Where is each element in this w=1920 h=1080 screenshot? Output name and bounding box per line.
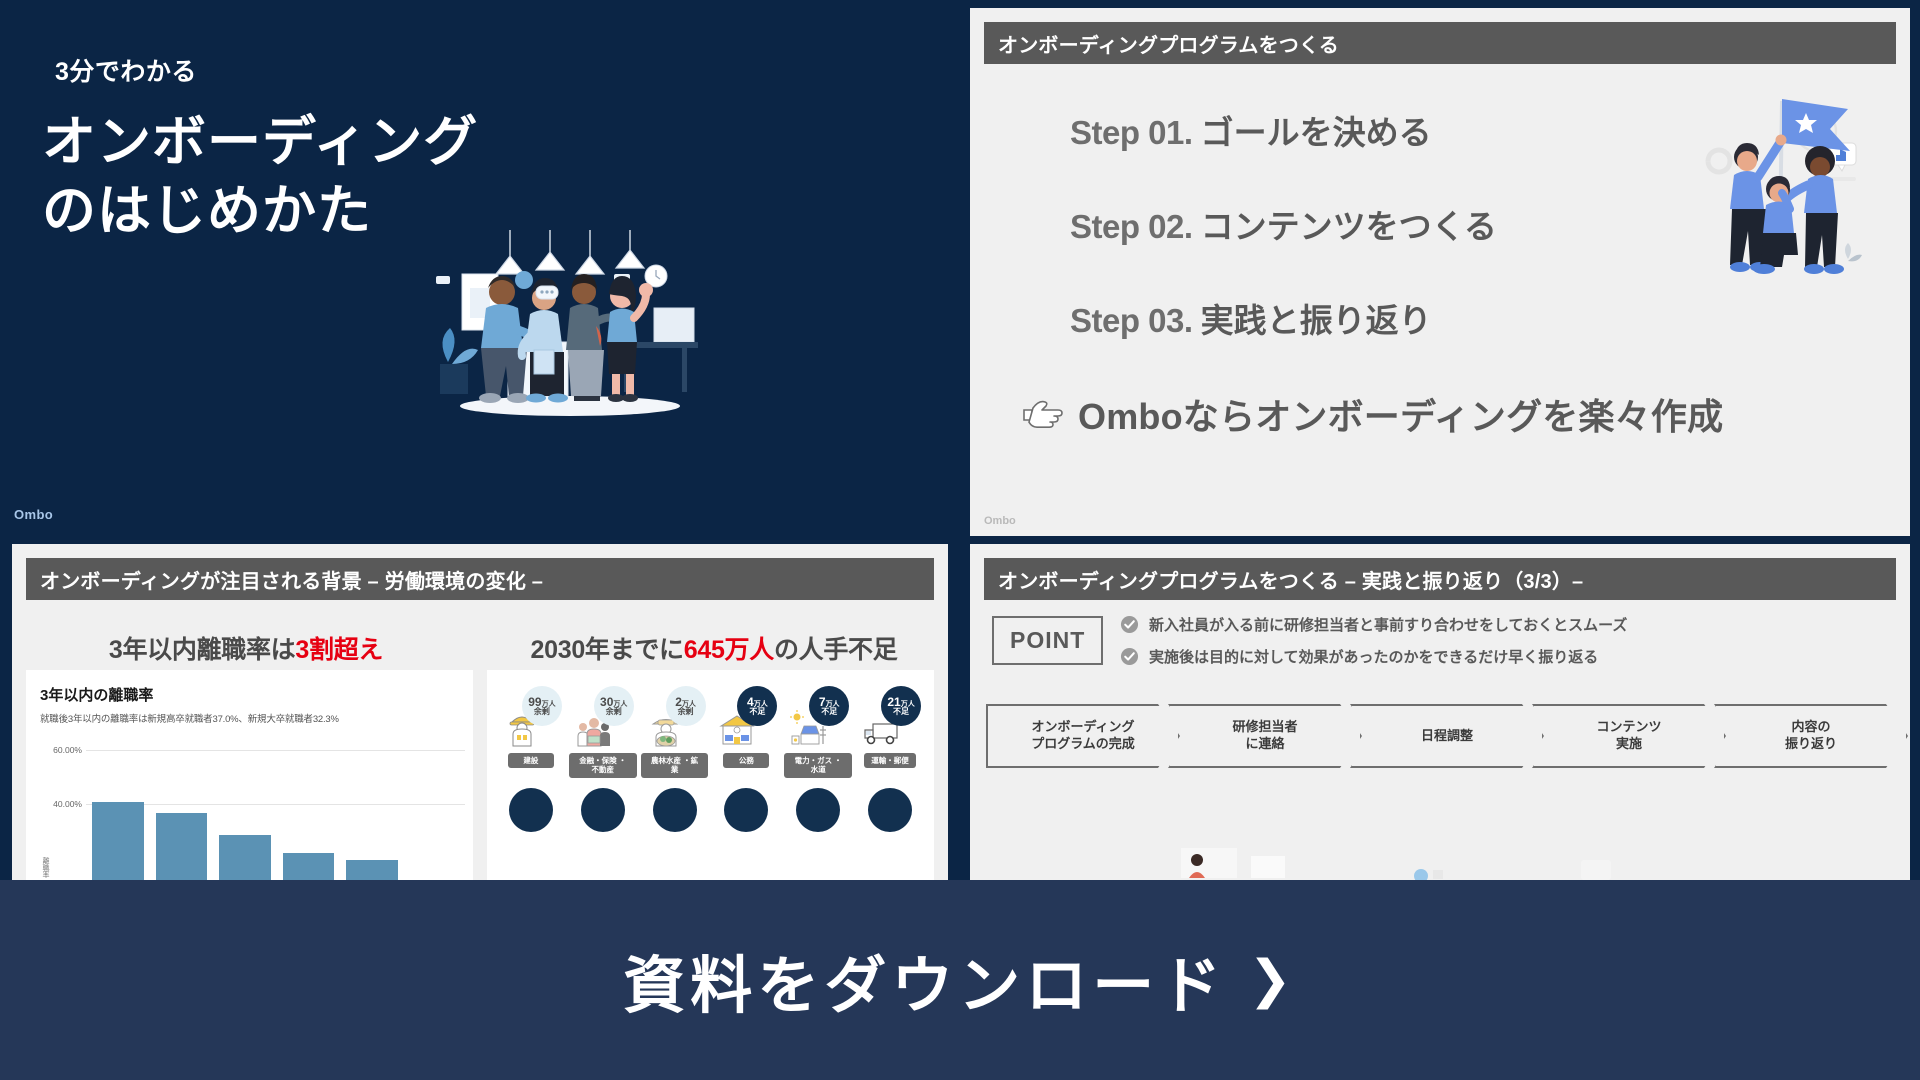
turnover-chart-card: 3年以内の離職率 就職後3年以内の離職率は新規高卒就職者37.0%、新規大卒就職…	[26, 670, 473, 880]
cover-eyebrow: 3分でわかる	[55, 52, 197, 88]
workforce-visual: 4万人 不足	[717, 686, 775, 748]
workforce-visual: 99万人 余剰	[502, 686, 560, 748]
stat-left-highlight: 3割超え	[295, 636, 383, 664]
steps-cta-label: Omboならオンボーディングを楽々作成	[1078, 388, 1723, 440]
team-greeting-illustration	[418, 230, 718, 420]
process-flow: オンボーディング プログラムの完成 研修担当者 に連絡 日程調整 コンテンツ 実…	[986, 704, 1896, 768]
process-step-label: 研修担当者 に連絡	[1232, 719, 1297, 753]
step-label: 実践と振り返り	[1201, 294, 1432, 342]
chevron-right-icon: ❯	[1248, 950, 1297, 1010]
workforce-visual: 2万人 余剰	[646, 686, 704, 748]
chart-bar	[156, 813, 208, 880]
download-cta-label: 資料をダウンロード	[623, 935, 1226, 1025]
chart-y-axis-label: 離職率	[40, 857, 50, 878]
slide-practice-sheet: オンボーディングプログラムをつくる – 実践と振り返り（3/3）– POINT …	[970, 544, 1910, 880]
workforce-status: 不足	[893, 708, 909, 716]
slide-background-sheet: オンボーディングが注目される背景 – 労働環境の変化 – 3年以内離職率は3割超…	[12, 544, 948, 880]
workforce-category: 電力・ガス ・水道	[784, 753, 852, 778]
workforce-column: 99万人 余剰 建設	[497, 686, 565, 778]
step-item: Step 02. コンテンツをつくる	[1070, 200, 1723, 248]
process-step: 内容の 振り返り	[1714, 704, 1908, 768]
point-item: 新入社員が入る前に研修担当者と事前すり合わせをしておくとスムーズ	[1120, 614, 1896, 635]
slide-background-header-text: オンボーディングが注目される背景 – 労働環境の変化 –	[26, 565, 543, 594]
slide-steps[interactable]: オンボーディングプログラムをつくる Step 01. ゴールを決める Step …	[958, 0, 1920, 536]
workforce-category: 農林水産 ・鉱業	[641, 753, 709, 778]
workforce-blob	[796, 788, 840, 832]
workforce-column: 30万人 余剰 金融・保険 ・不動産	[569, 686, 637, 778]
chart-plot-area: 60.00% 40.00% 離職率	[40, 732, 465, 880]
check-circle-icon	[1120, 647, 1139, 666]
chart-bar	[219, 835, 271, 880]
workforce-bubble: 7万人 不足	[809, 686, 849, 726]
point-list: 新入社員が入る前に研修担当者と事前すり合わせをしておくとスムーズ 実施後は目的に…	[1120, 614, 1896, 678]
steps-cta-row: Omboならオンボーディングを楽々作成	[1022, 388, 1723, 440]
workforce-blob	[653, 788, 697, 832]
check-circle-icon	[1120, 615, 1139, 634]
point-text: 新入社員が入る前に研修担当者と事前すり合わせをしておくとスムーズ	[1149, 614, 1627, 635]
steps-list: Step 01. ゴールを決める Step 02. コンテンツをつくる Step…	[1070, 106, 1723, 440]
team-flag-illustration	[1680, 83, 1870, 283]
stat-headline-right: 2030年までに645万人の人手不足	[480, 630, 948, 666]
slide-steps-logo: Ombo	[984, 515, 1016, 527]
workforce-column: 21万人 不足 運輸・郵便	[856, 686, 924, 778]
stat-left-prefix: 3年以内離職率は	[109, 636, 296, 664]
slide-preview-grid: 3分でわかる オンボーディング のはじめかた	[0, 0, 1920, 880]
chart-bar	[346, 860, 398, 880]
workforce-status: 不足	[749, 708, 765, 716]
slide-practice-header: オンボーディングプログラムをつくる – 実践と振り返り（3/3）–	[984, 558, 1896, 600]
slide-background-header: オンボーディングが注目される背景 – 労働環境の変化 –	[26, 558, 934, 600]
workforce-columns: 99万人 余剰 建設	[497, 686, 924, 778]
workforce-blob	[581, 788, 625, 832]
workforce-column: 4万人 不足 公務	[712, 686, 780, 778]
workforce-status: 余剰	[678, 708, 694, 716]
step-number: Step 01.	[1070, 114, 1193, 152]
workforce-status: 余剰	[606, 708, 622, 716]
chart-bars	[92, 732, 461, 880]
chart-title: 3年以内の離職率	[40, 684, 461, 705]
slide-background[interactable]: オンボーディングが注目される背景 – 労働環境の変化 – 3年以内離職率は3割超…	[0, 536, 958, 880]
process-step: 研修担当者 に連絡	[1168, 704, 1362, 768]
workforce-status: 余剰	[534, 708, 550, 716]
workforce-blob	[868, 788, 912, 832]
workforce-bubble: 99万人 余剰	[522, 686, 562, 726]
ytick-label-40: 40.00%	[40, 799, 82, 809]
process-step-label: 内容の 振り返り	[1785, 719, 1837, 753]
cover-logo: Ombo	[14, 507, 53, 522]
step-label: コンテンツをつくる	[1201, 200, 1497, 248]
slide-practice[interactable]: オンボーディングプログラムをつくる – 実践と振り返り（3/3）– POINT …	[958, 536, 1920, 880]
step-item: Step 01. ゴールを決める	[1070, 106, 1723, 154]
point-badge: POINT	[992, 616, 1103, 665]
workforce-category: 金融・保険 ・不動産	[569, 753, 637, 778]
process-step: 日程調整	[1350, 704, 1544, 768]
slide-practice-footer-preview	[986, 842, 1896, 880]
workforce-bubble: 2万人 余剰	[666, 686, 706, 726]
footer-illustration	[986, 842, 1896, 880]
download-cta-label-group: 資料をダウンロード ❯	[623, 935, 1297, 1025]
chart-subtitle: 就職後3年以内の離職率は新規高卒就職者37.0%、新規大卒就職者32.3%	[40, 711, 461, 725]
workforce-blob	[724, 788, 768, 832]
workforce-visual: 7万人 不足	[789, 686, 847, 748]
step-number: Step 03.	[1070, 302, 1193, 340]
workforce-status: 不足	[821, 708, 837, 716]
workforce-column: 7万人 不足 電力・ガス ・水道	[784, 686, 852, 778]
workforce-category: 建設	[508, 753, 554, 768]
workforce-bubble: 30万人 余剰	[594, 686, 634, 726]
workforce-visual: 21万人 不足	[861, 686, 919, 748]
process-step-label: 日程調整	[1421, 728, 1473, 745]
chart-bar	[92, 802, 144, 880]
stat-right-suffix: の人手不足	[774, 636, 898, 664]
workforce-visual: 30万人 余剰	[574, 686, 632, 748]
stat-right-prefix: 2030年までに	[531, 636, 684, 664]
ytick-label-60: 60.00%	[40, 745, 82, 755]
process-step-label: コンテンツ 実施	[1596, 719, 1661, 753]
process-step-label: オンボーディング プログラムの完成	[1031, 719, 1135, 753]
slide-steps-sheet: オンボーディングプログラムをつくる Step 01. ゴールを決める Step …	[970, 8, 1910, 536]
workforce-second-row-preview	[497, 788, 924, 832]
slide-steps-header-text: オンボーディングプログラムをつくる	[984, 29, 1339, 58]
workforce-column: 2万人 余剰 農林水産 ・鉱業	[641, 686, 709, 778]
download-cta-bar[interactable]: 資料をダウンロード ❯	[0, 880, 1920, 1080]
cover-title-line-1: オンボーディング	[42, 108, 642, 177]
workforce-category: 運輸・郵便	[864, 753, 916, 768]
landing-page: 3分でわかる オンボーディング のはじめかた	[0, 0, 1920, 1080]
stat-headline-left: 3年以内離職率は3割超え	[12, 630, 480, 666]
step-item: Step 03. 実践と振り返り	[1070, 294, 1723, 342]
pointing-hand-icon	[1022, 398, 1068, 430]
workforce-blob	[509, 788, 553, 832]
process-step: コンテンツ 実施	[1532, 704, 1726, 768]
workforce-bubble: 4万人 不足	[737, 686, 777, 726]
step-number: Step 02.	[1070, 208, 1193, 246]
process-step: オンボーディング プログラムの完成	[986, 704, 1180, 768]
slide-steps-header: オンボーディングプログラムをつくる	[984, 22, 1896, 64]
step-label: ゴールを決める	[1201, 106, 1432, 154]
slide-cover[interactable]: 3分でわかる オンボーディング のはじめかた	[0, 0, 958, 536]
stat-headlines: 3年以内離職率は3割超え 2030年までに645万人の人手不足	[12, 630, 948, 666]
point-text: 実施後は目的に対して効果があったのかをできるだけ早く振り返る	[1149, 646, 1598, 667]
cover-title: オンボーディング のはじめかた	[42, 108, 642, 246]
stat-right-highlight: 645万人	[684, 636, 774, 664]
point-item: 実施後は目的に対して効果があったのかをできるだけ早く振り返る	[1120, 646, 1896, 667]
workforce-infographic-card: 99万人 余剰 建設	[487, 670, 934, 880]
workforce-category: 公務	[723, 753, 769, 768]
chart-bar	[283, 853, 335, 880]
slide-practice-header-text: オンボーディングプログラムをつくる – 実践と振り返り（3/3）–	[984, 565, 1583, 594]
workforce-bubble: 21万人 不足	[881, 686, 921, 726]
stat-cards: 3年以内の離職率 就職後3年以内の離職率は新規高卒就職者37.0%、新規大卒就職…	[26, 670, 934, 880]
